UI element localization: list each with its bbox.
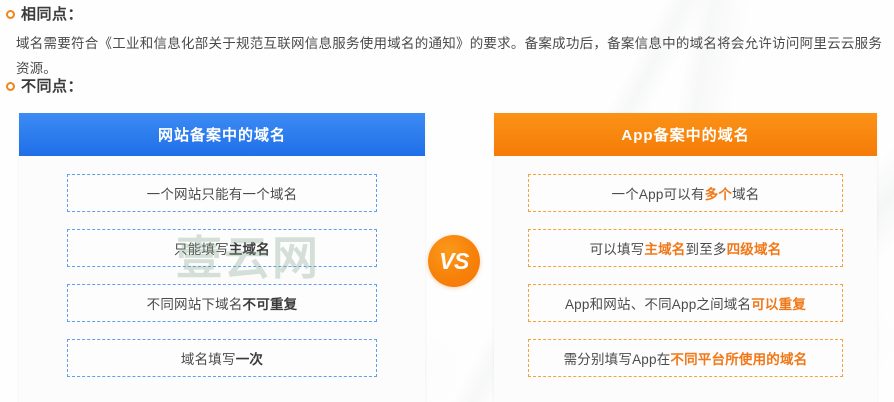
panel-app-filing: App备案中的域名 一个App可以有多个域名 可以填写主域名到至多四级域名 Ap… xyxy=(494,113,877,402)
vs-badge: VS xyxy=(428,235,480,287)
section-heading-same-label: 相同点： xyxy=(21,7,83,22)
panel-website-filing-body: 一个网站只能有一个域名 只能填写主域名 不同网站下域名不可重复 域名填写一次 xyxy=(19,156,425,377)
list-item: 域名填写一次 xyxy=(67,339,377,377)
panel-website-filing: 网站备案中的域名 一个网站只能有一个域名 只能填写主域名 不同网站下域名不可重复… xyxy=(19,113,425,402)
item-text-plain: 域名 xyxy=(732,183,759,203)
item-text-plain: 只能填写 xyxy=(174,238,229,258)
item-text-plain: 需分别填写App在 xyxy=(564,348,671,368)
item-text-plain: 到至多 xyxy=(686,238,727,258)
item-text-bold: 一次 xyxy=(236,348,263,368)
item-text-plain: 可以填写 xyxy=(590,238,645,258)
item-text-plain: App和网站、不同App之间域名 xyxy=(565,293,751,313)
panel-app-filing-body: 一个App可以有多个域名 可以填写主域名到至多四级域名 App和网站、不同App… xyxy=(494,156,877,377)
ring-bullet-icon xyxy=(6,10,15,19)
list-item: 一个网站只能有一个域名 xyxy=(67,174,377,212)
item-text-highlight: 多个 xyxy=(705,183,732,203)
item-text-plain: 一个网站只能有一个域名 xyxy=(147,183,298,203)
list-item: 只能填写主域名 xyxy=(67,229,377,267)
ring-bullet-icon xyxy=(6,82,15,91)
item-text-highlight: 主域名 xyxy=(644,238,685,258)
item-text-plain: 不同网站下域名 xyxy=(147,293,243,313)
section-heading-diff-label: 不同点： xyxy=(21,79,83,94)
list-item: 需分别填写App在不同平台所使用的域名 xyxy=(528,339,843,377)
item-text-highlight: 四级域名 xyxy=(727,238,782,258)
section-heading-same: 相同点： xyxy=(6,7,83,22)
item-text-bold: 主域名 xyxy=(229,238,270,258)
list-item: 不同网站下域名不可重复 xyxy=(67,284,377,322)
item-text-highlight: 可以重复 xyxy=(751,293,806,313)
item-text-plain: 域名填写 xyxy=(181,348,236,368)
same-points-paragraph: 域名需要符合《工业和信息化部关于规范互联网信息服务使用域名的通知》的要求。备案成… xyxy=(16,31,882,81)
list-item: 可以填写主域名到至多四级域名 xyxy=(528,229,843,267)
item-text-bold: 不可重复 xyxy=(243,293,298,313)
list-item: 一个App可以有多个域名 xyxy=(528,174,843,212)
item-text-plain: 一个App可以有 xyxy=(612,183,705,203)
panel-website-filing-header: 网站备案中的域名 xyxy=(19,113,425,156)
section-heading-diff: 不同点： xyxy=(6,79,83,94)
list-item: App和网站、不同App之间域名可以重复 xyxy=(528,284,843,322)
item-text-highlight: 不同平台所使用的域名 xyxy=(670,348,807,368)
panel-app-filing-header: App备案中的域名 xyxy=(494,113,877,156)
